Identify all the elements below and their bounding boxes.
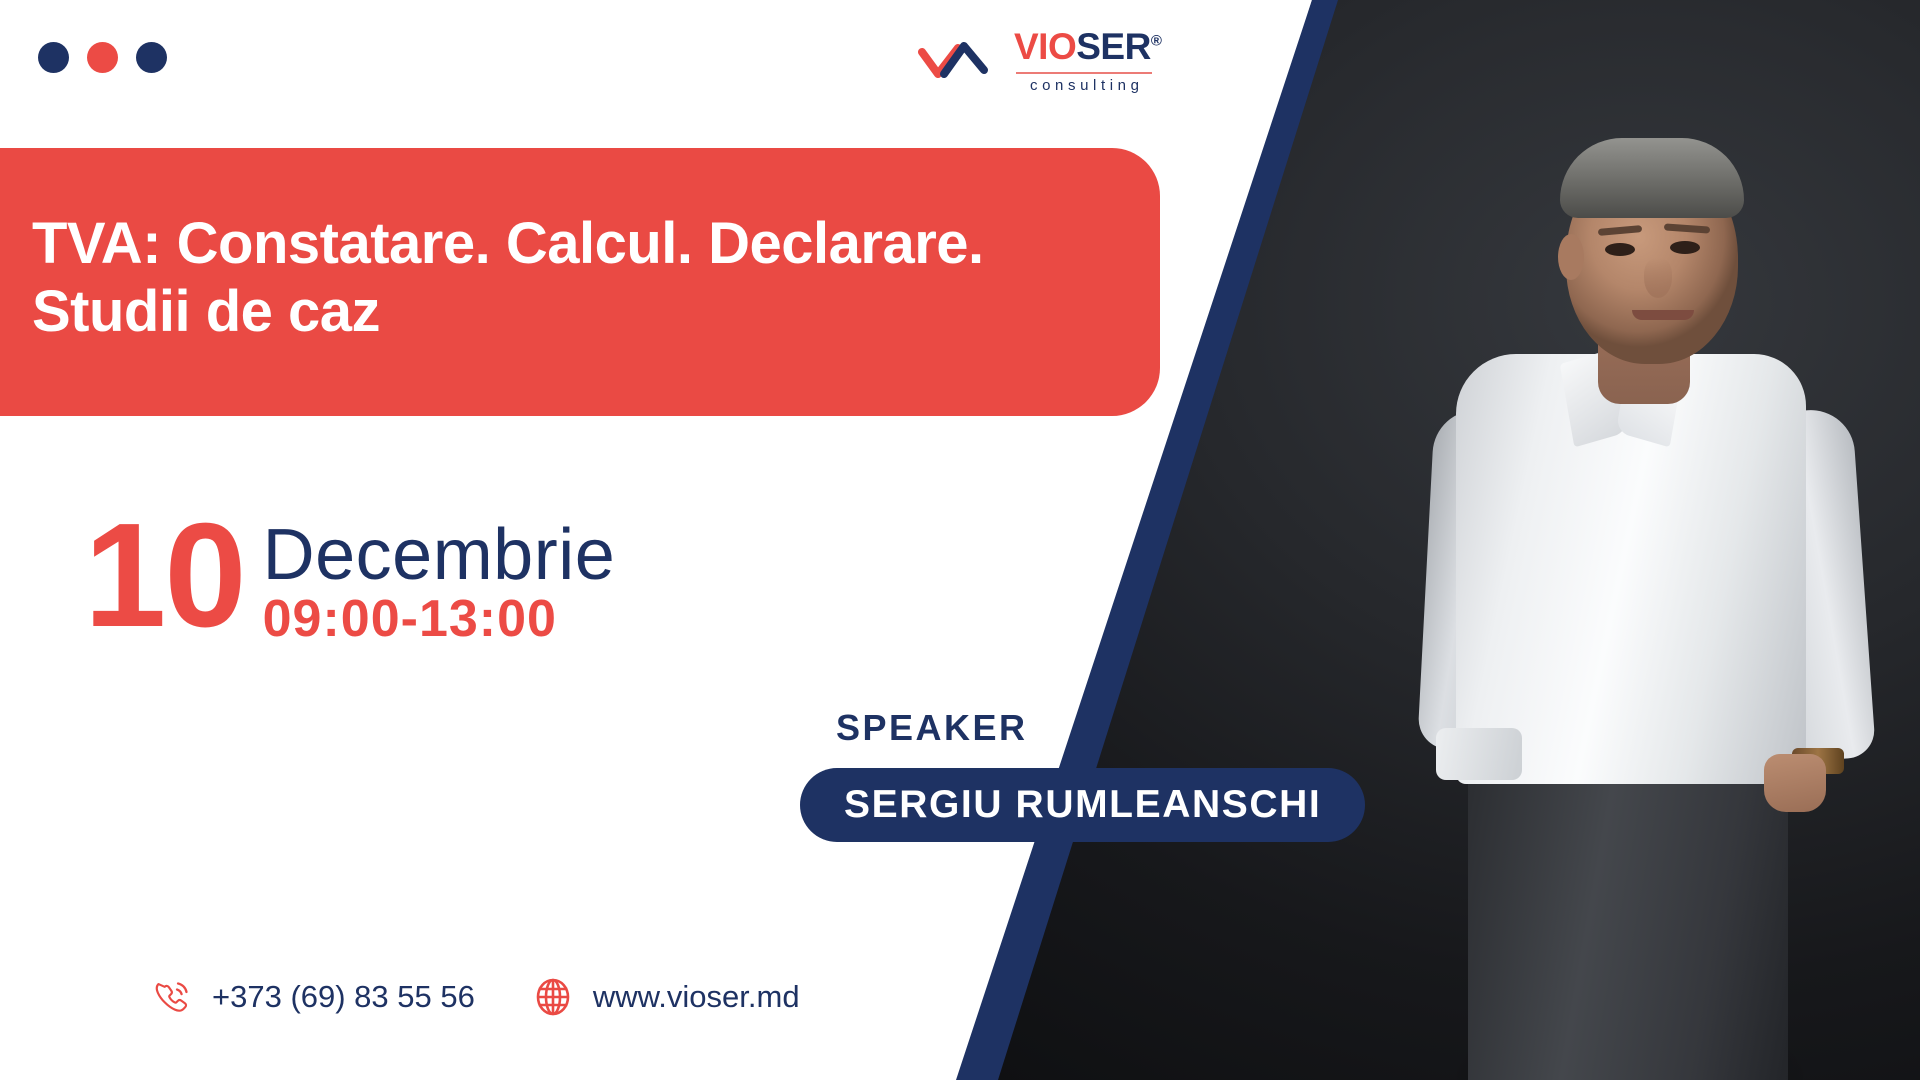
portrait-hand [1764,754,1826,812]
portrait-trousers [1468,750,1788,1080]
title-banner: TVA: Constatare. Calcul. Declarare. Stud… [0,148,1160,416]
decorative-dots [38,42,167,73]
portrait-eye-left [1605,243,1635,256]
portrait-ear [1558,234,1584,280]
phone-icon [150,975,194,1019]
event-time: 09:00-13:00 [263,592,616,647]
globe-icon [531,975,575,1019]
contact-website[interactable]: www.vioser.md [531,975,800,1019]
dot-navy-1 [38,42,69,73]
vioser-chevron-mark [918,38,1004,82]
event-month: Decembrie [263,522,616,588]
event-date-block: 10 Decembrie 09:00-13:00 [84,512,615,647]
portrait-hair [1560,138,1744,218]
logo-word-vio: VIO [1014,26,1076,67]
portrait-mouth [1632,310,1694,320]
speaker-portrait [1360,70,1920,1080]
phone-number: +373 (69) 83 55 56 [212,979,475,1015]
contact-phone[interactable]: +373 (69) 83 55 56 [150,975,475,1019]
portrait-nose [1644,258,1672,298]
portrait-cuff [1436,728,1522,780]
dot-red-2 [87,42,118,73]
vioser-logo: VIOSER® consulting [918,22,1168,96]
logo-registered-mark: ® [1151,33,1162,50]
speaker-name: SERGIU RUMLEANSCHI [844,783,1321,827]
event-title: TVA: Constatare. Calcul. Declarare. Stud… [32,210,1100,346]
contact-row: +373 (69) 83 55 56 www.vioser.md [150,975,800,1019]
event-date-details: Decembrie 09:00-13:00 [263,512,616,647]
speaker-name-pill: SERGIU RUMLEANSCHI [800,768,1365,842]
dot-navy-3 [136,42,167,73]
website-url: www.vioser.md [593,979,800,1015]
portrait-eye-right [1670,241,1700,254]
logo-underline [1016,72,1152,74]
event-day: 10 [84,512,245,639]
logo-subtitle: consulting [1030,77,1144,94]
logo-word-ser: SER [1076,26,1151,67]
event-poster: VIOSER® consulting TVA: Constatare. Calc… [0,0,1920,1080]
logo-wordmark: VIOSER® [1014,28,1161,65]
speaker-label: SPEAKER [836,707,1028,749]
